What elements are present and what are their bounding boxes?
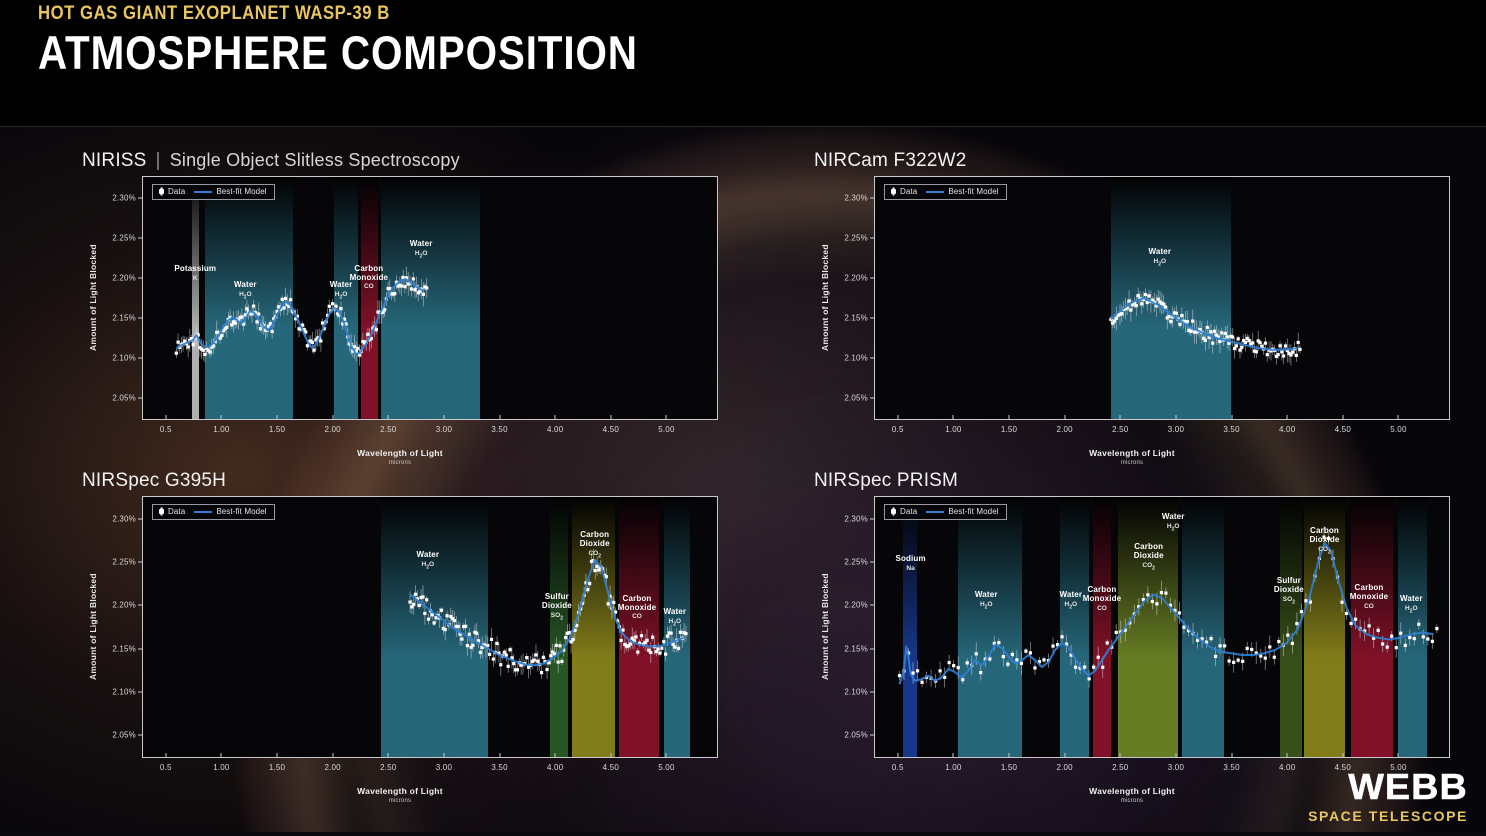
x-tick-label: 2.50	[1112, 763, 1128, 772]
legend-model-label: Best-fit Model	[948, 507, 998, 516]
x-tick-label: 1.50	[269, 763, 285, 772]
plot-area-nirspec-g395h[interactable]: WaterH2OSulfurDioxideSO2CarbonDioxideCO2…	[142, 496, 718, 758]
plot-wrapper-niriss: PotassiumKWaterH2OWaterH2OCarbonMonoxide…	[82, 176, 718, 472]
instrument-name: NIRCam F322W2	[814, 150, 967, 171]
y-tick-label: 2.15%	[112, 314, 136, 323]
instrument-name: NIRSpec G395H	[82, 470, 226, 491]
legend-item-model: Best-fit Model	[926, 507, 998, 516]
y-tick-label: 2.25%	[112, 233, 136, 242]
x-tick-label: 1.00	[945, 425, 961, 434]
y-tick-label: 2.25%	[844, 233, 868, 242]
legend-nirspec-g395h[interactable]: DataBest-fit Model	[152, 504, 275, 520]
y-tick-label: 2.15%	[844, 314, 868, 323]
x-tick-label: 1.00	[945, 763, 961, 772]
instrument-name: NIRSpec PRISM	[814, 470, 958, 491]
x-axis-units: microns	[844, 460, 1420, 466]
y-tick-label: 2.20%	[112, 601, 136, 610]
x-tick-label: 4.50	[603, 425, 619, 434]
x-axis-label: Wavelength of Light	[844, 448, 1420, 458]
x-tick-label: 1.00	[213, 763, 229, 772]
y-tick-label: 2.05%	[112, 730, 136, 739]
x-tick-label: 5.00	[658, 425, 674, 434]
x-tick-label: 4.00	[547, 425, 563, 434]
instrument-mode: Single Object Slitless Spectroscopy	[170, 150, 460, 170]
y-tick-label: 2.05%	[112, 394, 136, 403]
x-tick-label: 4.50	[1335, 425, 1351, 434]
y-tick-label: 2.15%	[112, 644, 136, 653]
legend-nircam[interactable]: DataBest-fit Model	[884, 184, 1007, 200]
x-tick-label: 5.00	[1390, 425, 1406, 434]
y-tick-label: 2.30%	[112, 515, 136, 524]
x-tick-label: 3.50	[491, 763, 507, 772]
y-tick-label: 2.30%	[844, 193, 868, 202]
spectrum-plot-nirspec-prism	[875, 497, 1448, 756]
spectrum-plot-nircam	[875, 177, 1448, 418]
x-tick-label: 0.5	[892, 763, 904, 772]
plot-inner-nircam: WaterH2ODataBest-fit Model	[875, 177, 1449, 419]
best-fit-model-line	[899, 543, 1433, 685]
spectrum-plot-niriss	[143, 177, 716, 418]
panel-title-nirspec-prism: NIRSpec PRISM	[814, 470, 958, 492]
title-separator: |	[156, 150, 161, 171]
plot-inner-niriss: PotassiumKWaterH2OWaterH2OCarbonMonoxide…	[143, 177, 717, 419]
header-bar: HOT GAS GIANT EXOPLANET WASP-39 b ATMOSP…	[0, 0, 1486, 126]
legend-data-label: Data	[168, 187, 185, 196]
plot-area-niriss[interactable]: PotassiumKWaterH2OWaterH2OCarbonMonoxide…	[142, 176, 718, 420]
model-line-icon	[926, 511, 944, 513]
plot-area-nircam[interactable]: WaterH2ODataBest-fit Model	[874, 176, 1450, 420]
plot-wrapper-nirspec-prism: SodiumNaWaterH2OWaterH2OCarbonMonoxideCO…	[814, 496, 1450, 810]
plot-area-nirspec-prism[interactable]: SodiumNaWaterH2OWaterH2OCarbonMonoxideCO…	[874, 496, 1450, 758]
y-axis-label: Amount of Light Blocked	[820, 569, 830, 685]
panel-title-nirspec-g395h: NIRSpec G395H	[82, 470, 226, 492]
panel-title-nircam: NIRCam F322W2	[814, 150, 967, 172]
x-tick-label: 4.00	[1279, 763, 1295, 772]
data-marker-icon	[159, 189, 164, 194]
x-tick-label: 0.5	[160, 763, 172, 772]
x-axis-units: microns	[112, 460, 688, 466]
x-tick-label: 2.50	[380, 763, 396, 772]
legend-model-label: Best-fit Model	[216, 187, 266, 196]
legend-niriss[interactable]: DataBest-fit Model	[152, 184, 275, 200]
data-marker-icon	[159, 509, 164, 514]
y-tick-label: 2.10%	[844, 354, 868, 363]
legend-item-data: Data	[159, 507, 185, 516]
x-tick-label: 3.00	[1168, 763, 1184, 772]
x-tick-label: 1.00	[213, 425, 229, 434]
data-points	[408, 549, 687, 679]
y-tick-label: 2.20%	[844, 601, 868, 610]
plot-wrapper-nirspec-g395h: WaterH2OSulfurDioxideSO2CarbonDioxideCO2…	[82, 496, 718, 810]
y-tick-label: 2.15%	[844, 644, 868, 653]
y-tick-label: 2.05%	[844, 394, 868, 403]
legend-model-label: Best-fit Model	[948, 187, 998, 196]
x-tick-label: 3.00	[436, 425, 452, 434]
y-tick-label: 2.10%	[112, 687, 136, 696]
instrument-name: NIRISS	[82, 150, 147, 171]
legend-nirspec-prism[interactable]: DataBest-fit Model	[884, 504, 1007, 520]
y-axis-label: Amount of Light Blocked	[820, 240, 830, 356]
x-axis-label: Wavelength of Light	[112, 448, 688, 458]
x-tick-label: 3.50	[1223, 425, 1239, 434]
x-tick-label: 3.50	[491, 425, 507, 434]
plot-inner-nirspec-prism: SodiumNaWaterH2OWaterH2OCarbonMonoxideCO…	[875, 497, 1449, 757]
x-tick-label: 0.5	[892, 425, 904, 434]
x-tick-label: 2.00	[1056, 763, 1072, 772]
x-tick-label: 1.50	[1001, 425, 1017, 434]
y-axis-label: Amount of Light Blocked	[88, 240, 98, 356]
legend-data-label: Data	[168, 507, 185, 516]
y-tick-label: 2.25%	[844, 558, 868, 567]
y-tick-label: 2.30%	[112, 193, 136, 202]
x-tick-label: 2.50	[1112, 425, 1128, 434]
y-tick-label: 2.10%	[844, 687, 868, 696]
x-tick-label: 1.50	[1001, 763, 1017, 772]
y-tick-label: 2.25%	[112, 558, 136, 567]
webb-logo-main: WEBB	[1300, 769, 1468, 805]
webb-logo: WEBB SPACE TELESCOPE	[1308, 769, 1468, 824]
header-kicker: HOT GAS GIANT EXOPLANET WASP-39 b	[38, 3, 390, 25]
spectrum-plot-nirspec-g395h	[143, 497, 716, 756]
y-tick-label: 2.20%	[112, 273, 136, 282]
model-line-icon	[926, 191, 944, 193]
x-tick-label: 4.50	[603, 763, 619, 772]
page-title: ATMOSPHERE COMPOSITION	[38, 28, 638, 77]
model-line-icon	[194, 511, 212, 513]
x-tick-label: 2.00	[324, 763, 340, 772]
data-marker-icon	[891, 189, 896, 194]
y-tick-label: 2.30%	[844, 515, 868, 524]
x-tick-label: 3.50	[1223, 763, 1239, 772]
data-points	[175, 267, 429, 366]
bottom-bar	[0, 832, 1486, 836]
legend-item-model: Best-fit Model	[194, 507, 266, 516]
x-tick-label: 2.00	[324, 425, 340, 434]
legend-item-model: Best-fit Model	[926, 187, 998, 196]
legend-data-label: Data	[900, 507, 917, 516]
x-tick-label: 1.50	[269, 425, 285, 434]
webb-logo-sub: SPACE TELESCOPE	[1308, 808, 1468, 824]
data-marker-icon	[891, 509, 896, 514]
legend-model-label: Best-fit Model	[216, 507, 266, 516]
infographic-root: HOT GAS GIANT EXOPLANET WASP-39 b ATMOSP…	[0, 0, 1486, 836]
best-fit-model-line	[176, 279, 423, 355]
x-axis-label: Wavelength of Light	[112, 786, 688, 796]
y-tick-label: 2.05%	[844, 730, 868, 739]
x-tick-label: 3.00	[436, 763, 452, 772]
y-tick-label: 2.20%	[844, 273, 868, 282]
x-tick-label: 2.50	[380, 425, 396, 434]
legend-data-label: Data	[900, 187, 917, 196]
x-tick-label: 0.5	[160, 425, 172, 434]
x-tick-label: 4.00	[547, 763, 563, 772]
legend-item-data: Data	[159, 187, 185, 196]
x-tick-label: 2.00	[1056, 425, 1072, 434]
y-tick-label: 2.10%	[112, 354, 136, 363]
plot-wrapper-nircam: WaterH2ODataBest-fit Model2.05%2.10%2.15…	[814, 176, 1450, 472]
x-axis-units: microns	[112, 798, 688, 804]
y-axis-label: Amount of Light Blocked	[88, 569, 98, 685]
legend-item-data: Data	[891, 187, 917, 196]
model-line-icon	[194, 191, 212, 193]
plot-inner-nirspec-g395h: WaterH2OSulfurDioxideSO2CarbonDioxideCO2…	[143, 497, 717, 757]
x-tick-label: 5.00	[658, 763, 674, 772]
x-tick-label: 4.00	[1279, 425, 1295, 434]
legend-item-data: Data	[891, 507, 917, 516]
legend-item-model: Best-fit Model	[194, 187, 266, 196]
x-tick-label: 3.00	[1168, 425, 1184, 434]
panel-title-niriss: NIRISS|Single Object Slitless Spectrosco…	[82, 150, 460, 172]
best-fit-model-line	[1111, 298, 1298, 349]
